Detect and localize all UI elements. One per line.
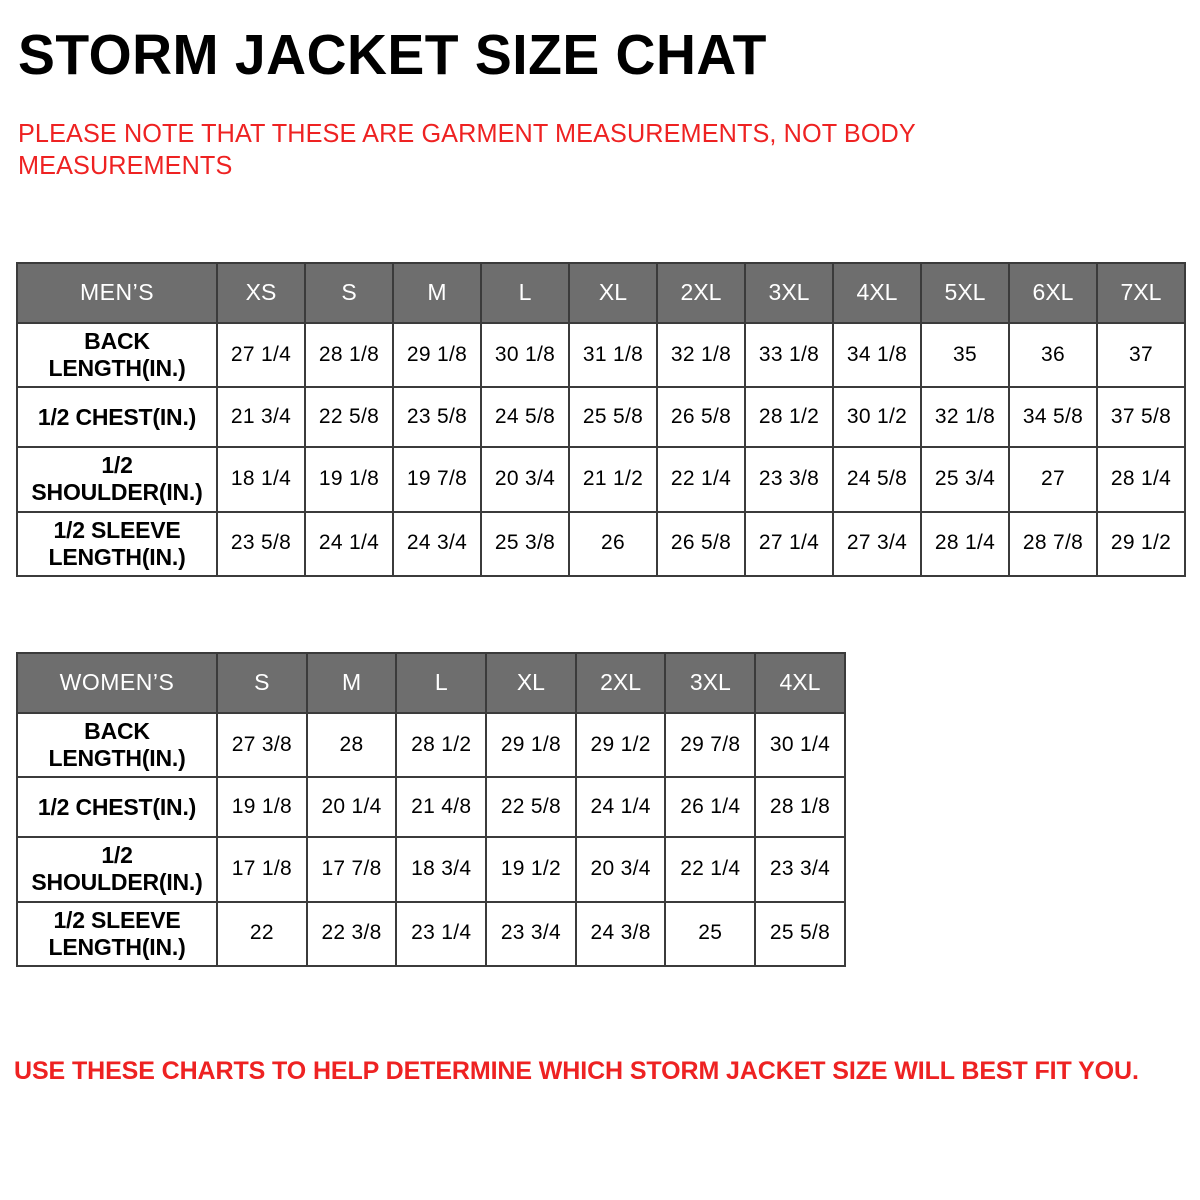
measurement-cell: 28 7/8 [1009, 512, 1097, 576]
mens-size-header-5xl: 5XL [921, 263, 1009, 323]
mens-size-header-3xl: 3XL [745, 263, 833, 323]
mens-measurement-label: 1/2 SLEEVE LENGTH(IN.) [17, 512, 217, 576]
measurement-cell: 34 1/8 [833, 323, 921, 387]
measurement-cell: 21 4/8 [396, 777, 486, 837]
measurement-cell: 29 1/2 [576, 713, 666, 777]
mens-measurement-label: 1/2 SHOULDER(IN.) [17, 447, 217, 511]
womens-measurement-label: BACK LENGTH(IN.) [17, 713, 217, 777]
measurement-cell: 22 5/8 [486, 777, 576, 837]
measurement-cell: 36 [1009, 323, 1097, 387]
measurement-cell: 17 1/8 [217, 837, 307, 901]
womens-size-header-2xl: 2XL [576, 653, 666, 713]
mens-size-header-4xl: 4XL [833, 263, 921, 323]
mens-size-header-xs: XS [217, 263, 305, 323]
measurement-cell: 28 1/4 [1097, 447, 1185, 511]
womens-table-body: BACK LENGTH(IN.)27 3/82828 1/229 1/829 1… [17, 713, 845, 966]
womens-size-header-xl: XL [486, 653, 576, 713]
measurement-cell: 26 5/8 [657, 387, 745, 447]
measurement-cell: 22 5/8 [305, 387, 393, 447]
measurement-cell: 19 1/2 [486, 837, 576, 901]
measurement-cell: 27 1/4 [217, 323, 305, 387]
measurement-cell: 29 1/8 [486, 713, 576, 777]
measurement-cell: 22 [217, 902, 307, 966]
size-chart-page: STORM JACKET SIZE CHAT PLEASE NOTE THAT … [0, 0, 1200, 1200]
measurement-cell: 22 3/8 [307, 902, 397, 966]
mens-size-header-7xl: 7XL [1097, 263, 1185, 323]
measurement-cell: 28 [307, 713, 397, 777]
measurement-cell: 30 1/2 [833, 387, 921, 447]
measurement-cell: 20 1/4 [307, 777, 397, 837]
measurement-cell: 23 1/4 [396, 902, 486, 966]
measurement-cell: 30 1/4 [755, 713, 845, 777]
mens-size-header-xl: XL [569, 263, 657, 323]
mens-size-header-s: S [305, 263, 393, 323]
measurement-cell: 23 5/8 [393, 387, 481, 447]
mens-table-head: MEN’SXSSMLXL2XL3XL4XL5XL6XL7XL [17, 263, 1185, 323]
mens-measurement-label: BACK LENGTH(IN.) [17, 323, 217, 387]
page-title: STORM JACKET SIZE CHAT [18, 22, 767, 88]
measurement-cell: 25 3/4 [921, 447, 1009, 511]
measurement-cell: 24 5/8 [833, 447, 921, 511]
mens-header-label: MEN’S [17, 263, 217, 323]
measurement-cell: 25 5/8 [569, 387, 657, 447]
measurement-cell: 31 1/8 [569, 323, 657, 387]
table-row: 1/2 CHEST(IN.)19 1/820 1/421 4/822 5/824… [17, 777, 845, 837]
measurement-cell: 29 1/2 [1097, 512, 1185, 576]
measurement-cell: 19 1/8 [217, 777, 307, 837]
womens-header-label: WOMEN’S [17, 653, 217, 713]
measurement-cell: 23 3/8 [745, 447, 833, 511]
measurement-cell: 17 7/8 [307, 837, 397, 901]
measurement-cell: 19 1/8 [305, 447, 393, 511]
mens-size-table: MEN’SXSSMLXL2XL3XL4XL5XL6XL7XL BACK LENG… [16, 262, 1186, 577]
measurement-cell: 20 3/4 [481, 447, 569, 511]
measurement-cell: 26 1/4 [665, 777, 755, 837]
measurement-cell: 22 1/4 [657, 447, 745, 511]
table-row: 1/2 SLEEVE LENGTH(IN.)2222 3/823 1/423 3… [17, 902, 845, 966]
mens-measurement-label: 1/2 CHEST(IN.) [17, 387, 217, 447]
measurement-cell: 19 7/8 [393, 447, 481, 511]
measurement-cell: 24 3/4 [393, 512, 481, 576]
table-row: 1/2 CHEST(IN.)21 3/422 5/823 5/824 5/825… [17, 387, 1185, 447]
table-row: 1/2 SHOULDER(IN.)18 1/419 1/819 7/820 3/… [17, 447, 1185, 511]
measurement-cell: 33 1/8 [745, 323, 833, 387]
measurement-cell: 23 3/4 [755, 837, 845, 901]
measurement-cell: 28 1/2 [745, 387, 833, 447]
mens-size-header-6xl: 6XL [1009, 263, 1097, 323]
womens-size-header-l: L [396, 653, 486, 713]
table-row: BACK LENGTH(IN.)27 3/82828 1/229 1/829 1… [17, 713, 845, 777]
womens-table-head: WOMEN’SSMLXL2XL3XL4XL [17, 653, 845, 713]
table-row: 1/2 SHOULDER(IN.)17 1/817 7/818 3/419 1/… [17, 837, 845, 901]
measurement-cell: 26 5/8 [657, 512, 745, 576]
measurement-cell: 29 7/8 [665, 713, 755, 777]
measurement-cell: 28 1/2 [396, 713, 486, 777]
measurement-cell: 23 5/8 [217, 512, 305, 576]
womens-size-header-m: M [307, 653, 397, 713]
measurement-cell: 20 3/4 [576, 837, 666, 901]
measurement-cell: 24 1/4 [576, 777, 666, 837]
mens-header-row: MEN’SXSSMLXL2XL3XL4XL5XL6XL7XL [17, 263, 1185, 323]
womens-size-header-s: S [217, 653, 307, 713]
measurement-cell: 25 [665, 902, 755, 966]
measurement-cell: 37 5/8 [1097, 387, 1185, 447]
mens-size-header-m: M [393, 263, 481, 323]
womens-measurement-label: 1/2 SLEEVE LENGTH(IN.) [17, 902, 217, 966]
measurement-cell: 27 3/8 [217, 713, 307, 777]
mens-size-header-2xl: 2XL [657, 263, 745, 323]
womens-size-table: WOMEN’SSMLXL2XL3XL4XL BACK LENGTH(IN.)27… [16, 652, 846, 967]
measurement-cell: 18 3/4 [396, 837, 486, 901]
measurement-cell: 24 3/8 [576, 902, 666, 966]
measurement-cell: 21 1/2 [569, 447, 657, 511]
measurement-cell: 21 3/4 [217, 387, 305, 447]
measurement-cell: 24 5/8 [481, 387, 569, 447]
measurement-cell: 34 5/8 [1009, 387, 1097, 447]
measurement-cell: 18 1/4 [217, 447, 305, 511]
measurement-cell: 28 1/4 [921, 512, 1009, 576]
fit-guidance-note: USE THESE CHARTS TO HELP DETERMINE WHICH… [14, 1056, 1164, 1086]
measurement-cell: 25 3/8 [481, 512, 569, 576]
measurement-cell: 28 1/8 [305, 323, 393, 387]
womens-header-row: WOMEN’SSMLXL2XL3XL4XL [17, 653, 845, 713]
womens-measurement-label: 1/2 CHEST(IN.) [17, 777, 217, 837]
measurement-cell: 28 1/8 [755, 777, 845, 837]
measurement-cell: 27 3/4 [833, 512, 921, 576]
womens-size-header-4xl: 4XL [755, 653, 845, 713]
mens-table-body: BACK LENGTH(IN.)27 1/428 1/829 1/830 1/8… [17, 323, 1185, 576]
table-row: BACK LENGTH(IN.)27 1/428 1/829 1/830 1/8… [17, 323, 1185, 387]
measurement-cell: 24 1/4 [305, 512, 393, 576]
measurement-cell: 32 1/8 [921, 387, 1009, 447]
measurement-cell: 35 [921, 323, 1009, 387]
table-row: 1/2 SLEEVE LENGTH(IN.)23 5/824 1/424 3/4… [17, 512, 1185, 576]
measurement-cell: 27 1/4 [745, 512, 833, 576]
measurement-cell: 23 3/4 [486, 902, 576, 966]
womens-measurement-label: 1/2 SHOULDER(IN.) [17, 837, 217, 901]
womens-size-header-3xl: 3XL [665, 653, 755, 713]
measurement-cell: 22 1/4 [665, 837, 755, 901]
mens-size-header-l: L [481, 263, 569, 323]
measurement-cell: 29 1/8 [393, 323, 481, 387]
measurement-cell: 27 [1009, 447, 1097, 511]
measurement-cell: 26 [569, 512, 657, 576]
measurement-cell: 30 1/8 [481, 323, 569, 387]
measurement-cell: 32 1/8 [657, 323, 745, 387]
garment-measurement-note: PLEASE NOTE THAT THESE ARE GARMENT MEASU… [18, 118, 968, 182]
measurement-cell: 37 [1097, 323, 1185, 387]
measurement-cell: 25 5/8 [755, 902, 845, 966]
